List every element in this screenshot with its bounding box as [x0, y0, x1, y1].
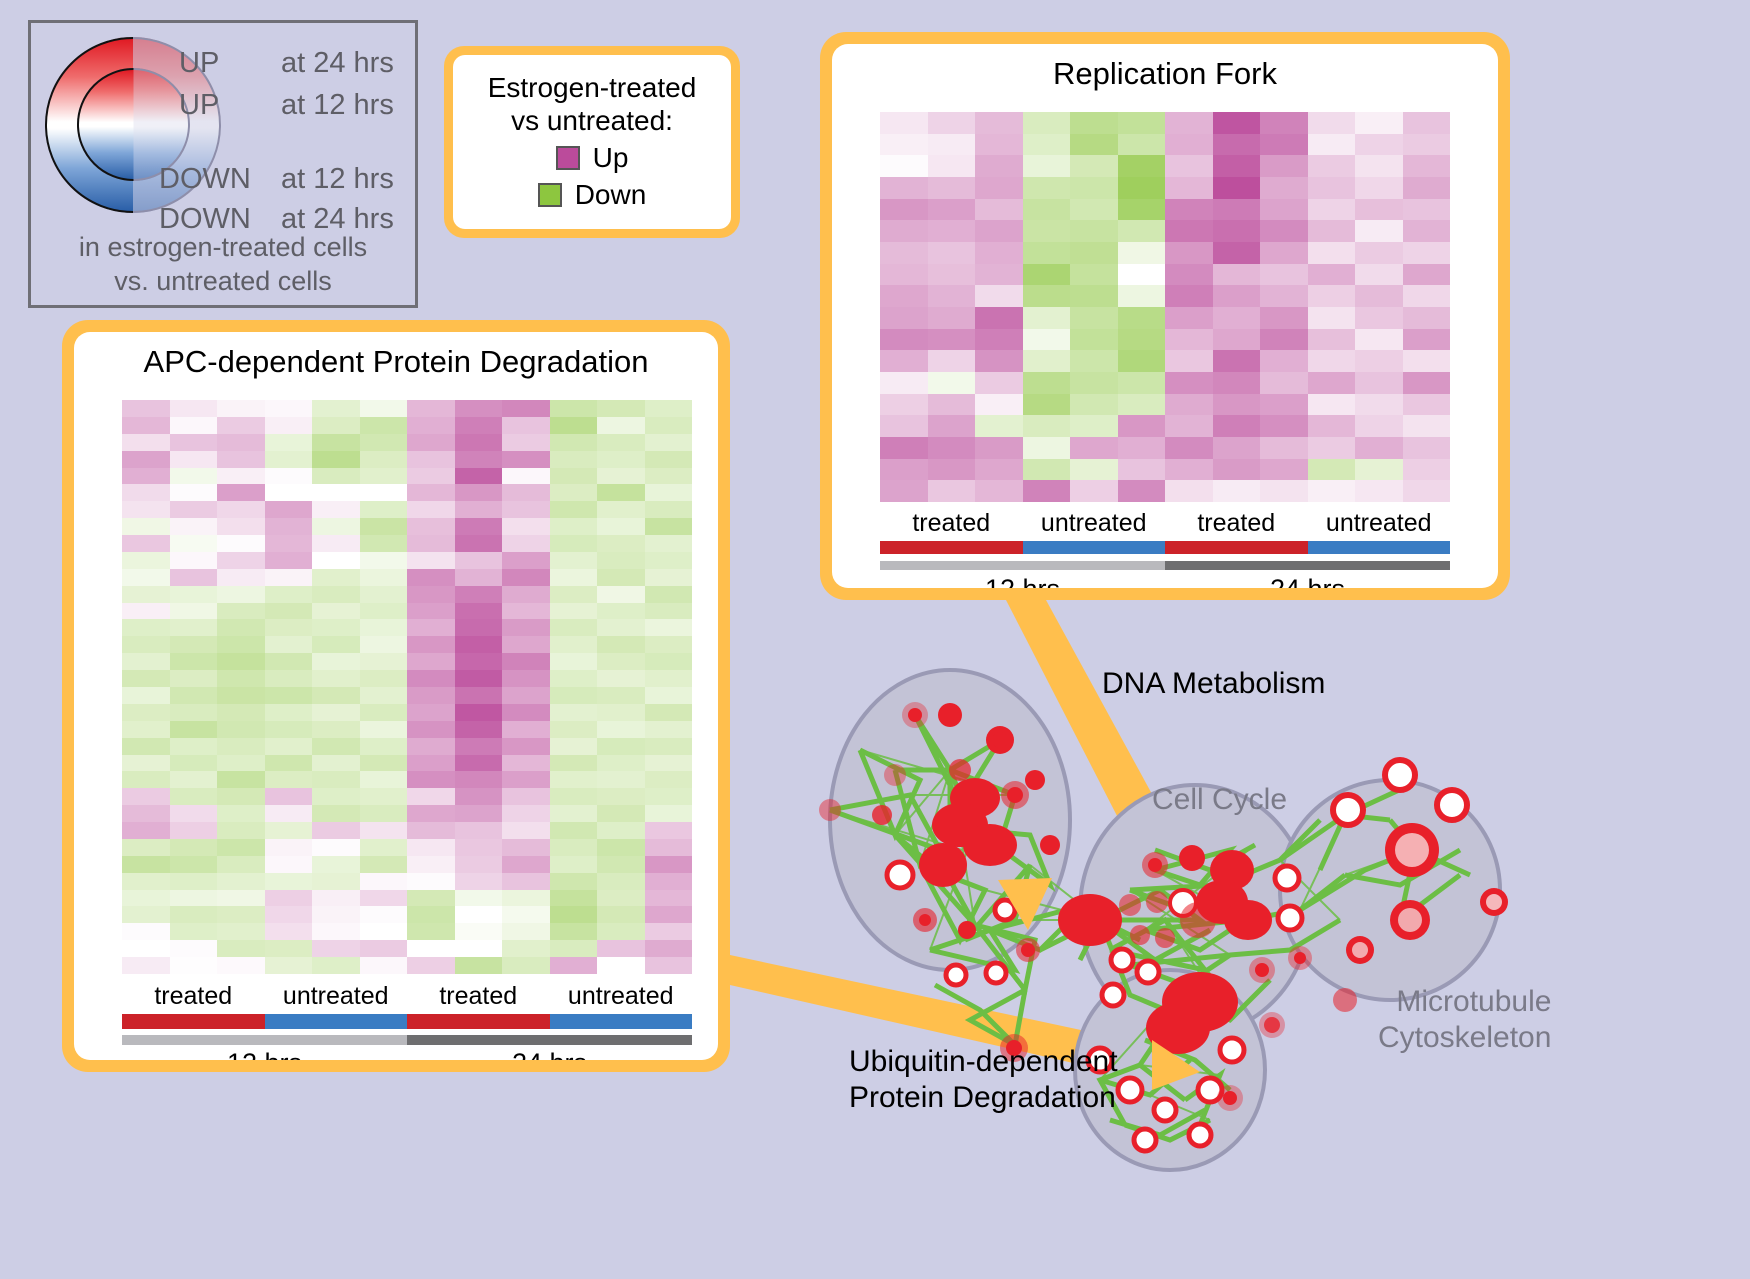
- heatmap-cell: [1260, 394, 1308, 416]
- heatmap-cell: [455, 569, 503, 586]
- heatmap-cell: [1403, 307, 1451, 329]
- heatmap-cell: [1070, 199, 1118, 221]
- heatmap-cell: [265, 890, 313, 907]
- heatmap-cell: [645, 788, 693, 805]
- heatmap-cell: [1070, 155, 1118, 177]
- heatmap-cell: [1070, 307, 1118, 329]
- heatmap-cell: [1165, 329, 1213, 351]
- heatmap-cell: [502, 957, 550, 974]
- heatmap-cell: [645, 839, 693, 856]
- heatmap-cell: [170, 906, 218, 923]
- heatmap-cell: [455, 771, 503, 788]
- heatmap-cell: [122, 771, 170, 788]
- panel-replication-fork: Replication Fork treateduntreatedtreated…: [820, 32, 1510, 600]
- heatmap-cell: [170, 535, 218, 552]
- heatmap-cell: [550, 518, 598, 535]
- heatmap-cell: [360, 906, 408, 923]
- heatmap-cell: [1165, 372, 1213, 394]
- heatmap-cell: [597, 586, 645, 603]
- heatmap-cell: [312, 468, 360, 485]
- heatmap-cell: [407, 569, 455, 586]
- heatmap-cell: [455, 653, 503, 670]
- network-node: [1154, 1099, 1176, 1121]
- heatmap-cell: [170, 653, 218, 670]
- heatmap-cell: [1308, 307, 1356, 329]
- heatmap-cell: [122, 636, 170, 653]
- heatmap-cell: [1355, 285, 1403, 307]
- heatmap-cell: [1118, 199, 1166, 221]
- heatmap-cell: [1213, 264, 1261, 286]
- heatmap-cell: [880, 220, 928, 242]
- heatmap-cell: [550, 484, 598, 501]
- heatmap-cell: [122, 839, 170, 856]
- heatmap-cell: [360, 451, 408, 468]
- heatmap-cell: [880, 329, 928, 351]
- heatmap-cell: [407, 501, 455, 518]
- panel-apc-inner: APC-dependent Protein Degradation treate…: [74, 332, 718, 1060]
- legend-footer-line1: in estrogen-treated cells: [31, 231, 415, 265]
- heatmap-cell: [1403, 459, 1451, 481]
- heatmap-cell: [360, 552, 408, 569]
- heatmap-cell: [1213, 134, 1261, 156]
- heatmap-cell: [1403, 480, 1451, 502]
- heatmap-cell: [407, 603, 455, 620]
- heatmap-cell: [455, 619, 503, 636]
- heatmap-cell: [170, 788, 218, 805]
- heatmap-cell: [360, 755, 408, 772]
- network-node: [1486, 894, 1502, 910]
- condition-label: untreated: [1023, 509, 1166, 538]
- heatmap-cell: [455, 957, 503, 974]
- heatmap-cell: [1308, 155, 1356, 177]
- network-node: [1333, 795, 1363, 825]
- heatmap-cell: [597, 957, 645, 974]
- heatmap-cell: [975, 155, 1023, 177]
- heatmap-cell: [407, 535, 455, 552]
- network-node: [1146, 891, 1168, 913]
- heatmap-cell: [312, 704, 360, 721]
- heatmap-cell: [1023, 329, 1071, 351]
- heatmap-cell: [360, 434, 408, 451]
- heatmap-cell: [1023, 199, 1071, 221]
- heatmap-cell: [312, 822, 360, 839]
- heatmap-cell: [880, 437, 928, 459]
- network-node: [884, 764, 906, 786]
- heatmap-cell: [360, 890, 408, 907]
- heatmap-cell: [407, 940, 455, 957]
- heatmap-cell: [502, 704, 550, 721]
- heatmap-cell: [645, 451, 693, 468]
- network-node: [1398, 908, 1422, 932]
- cluster-label-dna-metabolism: DNA Metabolism: [1102, 666, 1325, 702]
- heatmap-cell: [502, 484, 550, 501]
- heatmap-cell: [1118, 307, 1166, 329]
- heatmap-cell: [360, 569, 408, 586]
- heatmap-cell: [407, 923, 455, 940]
- heatmap-cell: [1355, 329, 1403, 351]
- heatmap-cell: [502, 586, 550, 603]
- heatmap-cell: [975, 112, 1023, 134]
- heatmap-cell: [217, 636, 265, 653]
- heatmap-cell: [1213, 415, 1261, 437]
- heatmap-cell: [455, 805, 503, 822]
- heatmap-cell: [1403, 242, 1451, 264]
- heatmap-cell: [1023, 480, 1071, 502]
- heatmap-cell: [265, 788, 313, 805]
- heatmap-cell: [122, 501, 170, 518]
- heatmap-cell: [360, 586, 408, 603]
- heatmap-cell: [597, 704, 645, 721]
- heatmap-cell: [455, 755, 503, 772]
- heatmap-cell: [597, 400, 645, 417]
- network-node: [963, 824, 1017, 866]
- heatmap-cell: [502, 755, 550, 772]
- heatmap-cell: [1118, 437, 1166, 459]
- heatmap-cell: [312, 771, 360, 788]
- heatmap-cell: [880, 394, 928, 416]
- heatmap-cell: [1023, 415, 1071, 437]
- network-node: [1111, 949, 1133, 971]
- heatmap-cell: [597, 434, 645, 451]
- heatmap-cell: [597, 940, 645, 957]
- heatmap-cell: [407, 586, 455, 603]
- heatmap-cell: [1118, 480, 1166, 502]
- heatmap-cell: [265, 755, 313, 772]
- heatmap-cell: [360, 704, 408, 721]
- heatmap-cell: [1355, 307, 1403, 329]
- heatmap-cell: [928, 459, 976, 481]
- heatmap-cell: [265, 721, 313, 738]
- legend-item-down: Down: [461, 179, 723, 211]
- heatmap-cell: [360, 839, 408, 856]
- time-labels-replication-fork: 12 hrs24 hrs: [880, 574, 1450, 588]
- heatmap-cell: [122, 619, 170, 636]
- heatmap-cell: [1355, 220, 1403, 242]
- heatmap-cell: [407, 687, 455, 704]
- heatmap-cell: [928, 242, 976, 264]
- heatmap-cell: [928, 415, 976, 437]
- heatmap-cell: [360, 501, 408, 518]
- heatmap-cell: [1403, 220, 1451, 242]
- heatmap-cell: [170, 586, 218, 603]
- heatmap-cell: [122, 535, 170, 552]
- heatmap-cell: [407, 619, 455, 636]
- heatmap-cell: [597, 873, 645, 890]
- heatmap-cell: [1260, 307, 1308, 329]
- network-node: [819, 799, 841, 821]
- legend-item-up: Up: [461, 142, 723, 174]
- heatmap-cell: [502, 788, 550, 805]
- updown-legend-title: Estrogen-treated vs untreated:: [461, 71, 723, 137]
- heatmap-cell: [312, 484, 360, 501]
- heatmap-cell: [455, 721, 503, 738]
- time-labels-apc: 12 hrs24 hrs: [122, 1048, 692, 1060]
- heatmap-cell: [1355, 134, 1403, 156]
- heatmap-cell: [170, 451, 218, 468]
- heatmap-cell: [455, 535, 503, 552]
- heatmap-cell: [1403, 177, 1451, 199]
- network-node: [992, 732, 1008, 748]
- heatmap-cell: [645, 569, 693, 586]
- heatmap-cell: [550, 552, 598, 569]
- heatmap-cell: [455, 451, 503, 468]
- heatmap-cell: [1260, 220, 1308, 242]
- heatmap-cell: [407, 906, 455, 923]
- heatmap-cell: [645, 417, 693, 434]
- heatmap-cell: [1403, 199, 1451, 221]
- heatmap-cell: [1023, 459, 1071, 481]
- legend-key-up-24: UP: [179, 47, 219, 80]
- heatmap-cell: [217, 484, 265, 501]
- heatmap-cell: [170, 569, 218, 586]
- heatmap-cell: [502, 923, 550, 940]
- heatmap-cell: [502, 434, 550, 451]
- heatmap-cell: [122, 873, 170, 890]
- heatmap-cell: [1355, 480, 1403, 502]
- heatmap-cell: [975, 307, 1023, 329]
- heatmap-cell: [312, 755, 360, 772]
- heatmap-cell: [1355, 372, 1403, 394]
- heatmap-cell: [170, 856, 218, 873]
- heatmap-cell: [407, 839, 455, 856]
- heatmap-cell: [597, 856, 645, 873]
- heatmap-cell: [265, 805, 313, 822]
- network-node: [1155, 928, 1175, 948]
- heatmap-cell: [928, 285, 976, 307]
- heatmap-cell: [645, 552, 693, 569]
- heatmap-cell: [407, 771, 455, 788]
- heatmap-cell: [1118, 112, 1166, 134]
- heatmap-cell: [170, 805, 218, 822]
- heatmap-cell: [407, 484, 455, 501]
- heatmap-cell: [1070, 134, 1118, 156]
- heatmap-cell: [502, 805, 550, 822]
- heatmap-cell: [1165, 394, 1213, 416]
- condition-label: untreated: [550, 982, 693, 1011]
- heatmap-cell: [1403, 415, 1451, 437]
- heatmap-cell: [407, 890, 455, 907]
- heatmap-cell: [645, 805, 693, 822]
- heatmap-cell: [1308, 134, 1356, 156]
- heatmap-cell: [217, 788, 265, 805]
- heatmap-cell: [407, 721, 455, 738]
- heatmap-cell: [170, 890, 218, 907]
- heatmap-cell: [502, 400, 550, 417]
- heatmap-cell: [1213, 112, 1261, 134]
- network-node: [1264, 1017, 1280, 1033]
- updown-legend-box: Estrogen-treated vs untreated: Up Down: [444, 46, 740, 238]
- heatmap-cell: [550, 653, 598, 670]
- heatmap-cell: [550, 603, 598, 620]
- legend-value-down-12: at 12 hrs: [281, 163, 394, 196]
- heatmap-cell: [1023, 177, 1071, 199]
- heatmap-cell: [455, 906, 503, 923]
- heatmap-cell: [360, 518, 408, 535]
- heatmap-cell: [407, 704, 455, 721]
- heatmap-cell: [1213, 199, 1261, 221]
- heatmap-cell: [928, 134, 976, 156]
- heatmap-cell: [597, 451, 645, 468]
- heatmap-cell: [217, 755, 265, 772]
- heatmap-cell: [217, 923, 265, 940]
- heatmap-cell: [360, 721, 408, 738]
- heatmap-cell: [550, 788, 598, 805]
- heatmap-cell: [1118, 329, 1166, 351]
- network-node: [887, 862, 913, 888]
- heatmap-cell: [502, 940, 550, 957]
- heatmap-cell: [1213, 285, 1261, 307]
- heatmap-cell: [1118, 242, 1166, 264]
- heatmap-cell: [455, 856, 503, 873]
- network-node: [1333, 988, 1357, 1012]
- heatmap-cell: [217, 890, 265, 907]
- heatmap-cell: [1355, 394, 1403, 416]
- heatmap-cell: [1023, 350, 1071, 372]
- heatmap-cell: [170, 552, 218, 569]
- network-node: [1189, 1124, 1211, 1146]
- network-node: [1275, 866, 1299, 890]
- heatmap-cell: [1070, 415, 1118, 437]
- heatmap-cell: [1165, 415, 1213, 437]
- heatmap-cell: [217, 518, 265, 535]
- heatmap-cell: [1070, 112, 1118, 134]
- heatmap-cell: [1165, 350, 1213, 372]
- heatmap-cell: [455, 400, 503, 417]
- heatmap-cell: [1118, 177, 1166, 199]
- heatmap-cell: [170, 619, 218, 636]
- heatmap-cell: [645, 484, 693, 501]
- heatmap-cell: [502, 822, 550, 839]
- heatmap-cell: [597, 501, 645, 518]
- heatmap-cell: [170, 738, 218, 755]
- heatmap-cell: [928, 350, 976, 372]
- heatmap-cell: [1023, 242, 1071, 264]
- heatmap-cell: [455, 687, 503, 704]
- heatmap-cell: [1165, 307, 1213, 329]
- heatmap-cell: [312, 636, 360, 653]
- heatmap-cell: [312, 619, 360, 636]
- heatmap-cell: [122, 518, 170, 535]
- heatmap-cell: [1213, 480, 1261, 502]
- heatmap-cell: [170, 468, 218, 485]
- heatmap-cell: [217, 771, 265, 788]
- heatmap-cell: [502, 687, 550, 704]
- heatmap-cell: [217, 400, 265, 417]
- heatmap-cell: [122, 653, 170, 670]
- heatmap-cell: [122, 721, 170, 738]
- heatmap-cell: [1118, 350, 1166, 372]
- heatmap-cell: [265, 417, 313, 434]
- heatmap-cell: [265, 552, 313, 569]
- cluster-label-cell-cycle: Cell Cycle: [1152, 782, 1287, 818]
- heatmap-cell: [975, 437, 1023, 459]
- heatmap-cell: [360, 417, 408, 434]
- heatmap-cell: [122, 451, 170, 468]
- heatmap-cell: [502, 636, 550, 653]
- heatmap-cell: [1070, 264, 1118, 286]
- heatmap-cell: [645, 586, 693, 603]
- heatmap-cell: [1213, 307, 1261, 329]
- heatmap-cell: [122, 890, 170, 907]
- heatmap-cell: [502, 619, 550, 636]
- heatmap-cell: [928, 155, 976, 177]
- heatmap-cell: [217, 957, 265, 974]
- heatmap-cell: [1260, 242, 1308, 264]
- heatmap-cell: [645, 704, 693, 721]
- heatmap-cell: [1403, 437, 1451, 459]
- heatmap-cell: [360, 873, 408, 890]
- network-node: [1025, 770, 1045, 790]
- heatmap-cell: [265, 687, 313, 704]
- heatmap-cell: [1165, 155, 1213, 177]
- network-node: [1040, 835, 1060, 855]
- heatmap-cell: [265, 856, 313, 873]
- heatmap-cell: [217, 417, 265, 434]
- heatmap-cell: [502, 603, 550, 620]
- heatmap-cell: [455, 738, 503, 755]
- heatmap-cell: [1023, 112, 1071, 134]
- heatmap-cell: [1308, 437, 1356, 459]
- time-bar-segment: [122, 1035, 407, 1045]
- heatmap-cell: [122, 586, 170, 603]
- heatmap-cell: [170, 923, 218, 940]
- heatmap-cell: [550, 451, 598, 468]
- heatmap-cell: [312, 518, 360, 535]
- heatmap-cell: [502, 873, 550, 890]
- condition-labels-apc: treateduntreatedtreateduntreated: [122, 982, 692, 1011]
- heatmap-cell: [1070, 459, 1118, 481]
- network-node: [946, 965, 966, 985]
- heatmap-cell: [407, 957, 455, 974]
- legend-label-up: Up: [593, 142, 629, 174]
- heatmap-cell: [312, 552, 360, 569]
- heatmap-cell: [502, 738, 550, 755]
- heatmap-cell: [407, 434, 455, 451]
- network-node: [1118, 1078, 1142, 1102]
- heatmap-cell: [1355, 177, 1403, 199]
- heatmap-cell: [1355, 112, 1403, 134]
- heatmap-cell: [1118, 264, 1166, 286]
- heatmap-cell: [312, 923, 360, 940]
- heatmap-cell: [217, 603, 265, 620]
- heatmap-cell: [265, 518, 313, 535]
- heatmap-cell: [1260, 415, 1308, 437]
- heatmap-cell: [975, 177, 1023, 199]
- heatmap-cell: [1308, 480, 1356, 502]
- heatmap-cell: [1070, 437, 1118, 459]
- heatmap-cell: [360, 619, 408, 636]
- heatmap-cell: [455, 940, 503, 957]
- heatmap-cell: [217, 653, 265, 670]
- condition-label: treated: [122, 982, 265, 1011]
- heatmap-cell: [1023, 264, 1071, 286]
- heatmap-cell: [645, 890, 693, 907]
- heatmap-cell: [1213, 459, 1261, 481]
- heatmap-cell: [217, 670, 265, 687]
- time-label: 24 hrs: [407, 1048, 692, 1060]
- heatmap-cell: [1355, 155, 1403, 177]
- heatmap-cell: [502, 771, 550, 788]
- heatmap-cell: [360, 603, 408, 620]
- heatmap-cell: [502, 518, 550, 535]
- heatmap-cell: [407, 873, 455, 890]
- heatmap-cell: [360, 484, 408, 501]
- heatmap-cell: [1165, 480, 1213, 502]
- heatmap-cell: [265, 873, 313, 890]
- heatmap-cell: [550, 687, 598, 704]
- heatmap-cell: [170, 501, 218, 518]
- heatmap-cell: [217, 569, 265, 586]
